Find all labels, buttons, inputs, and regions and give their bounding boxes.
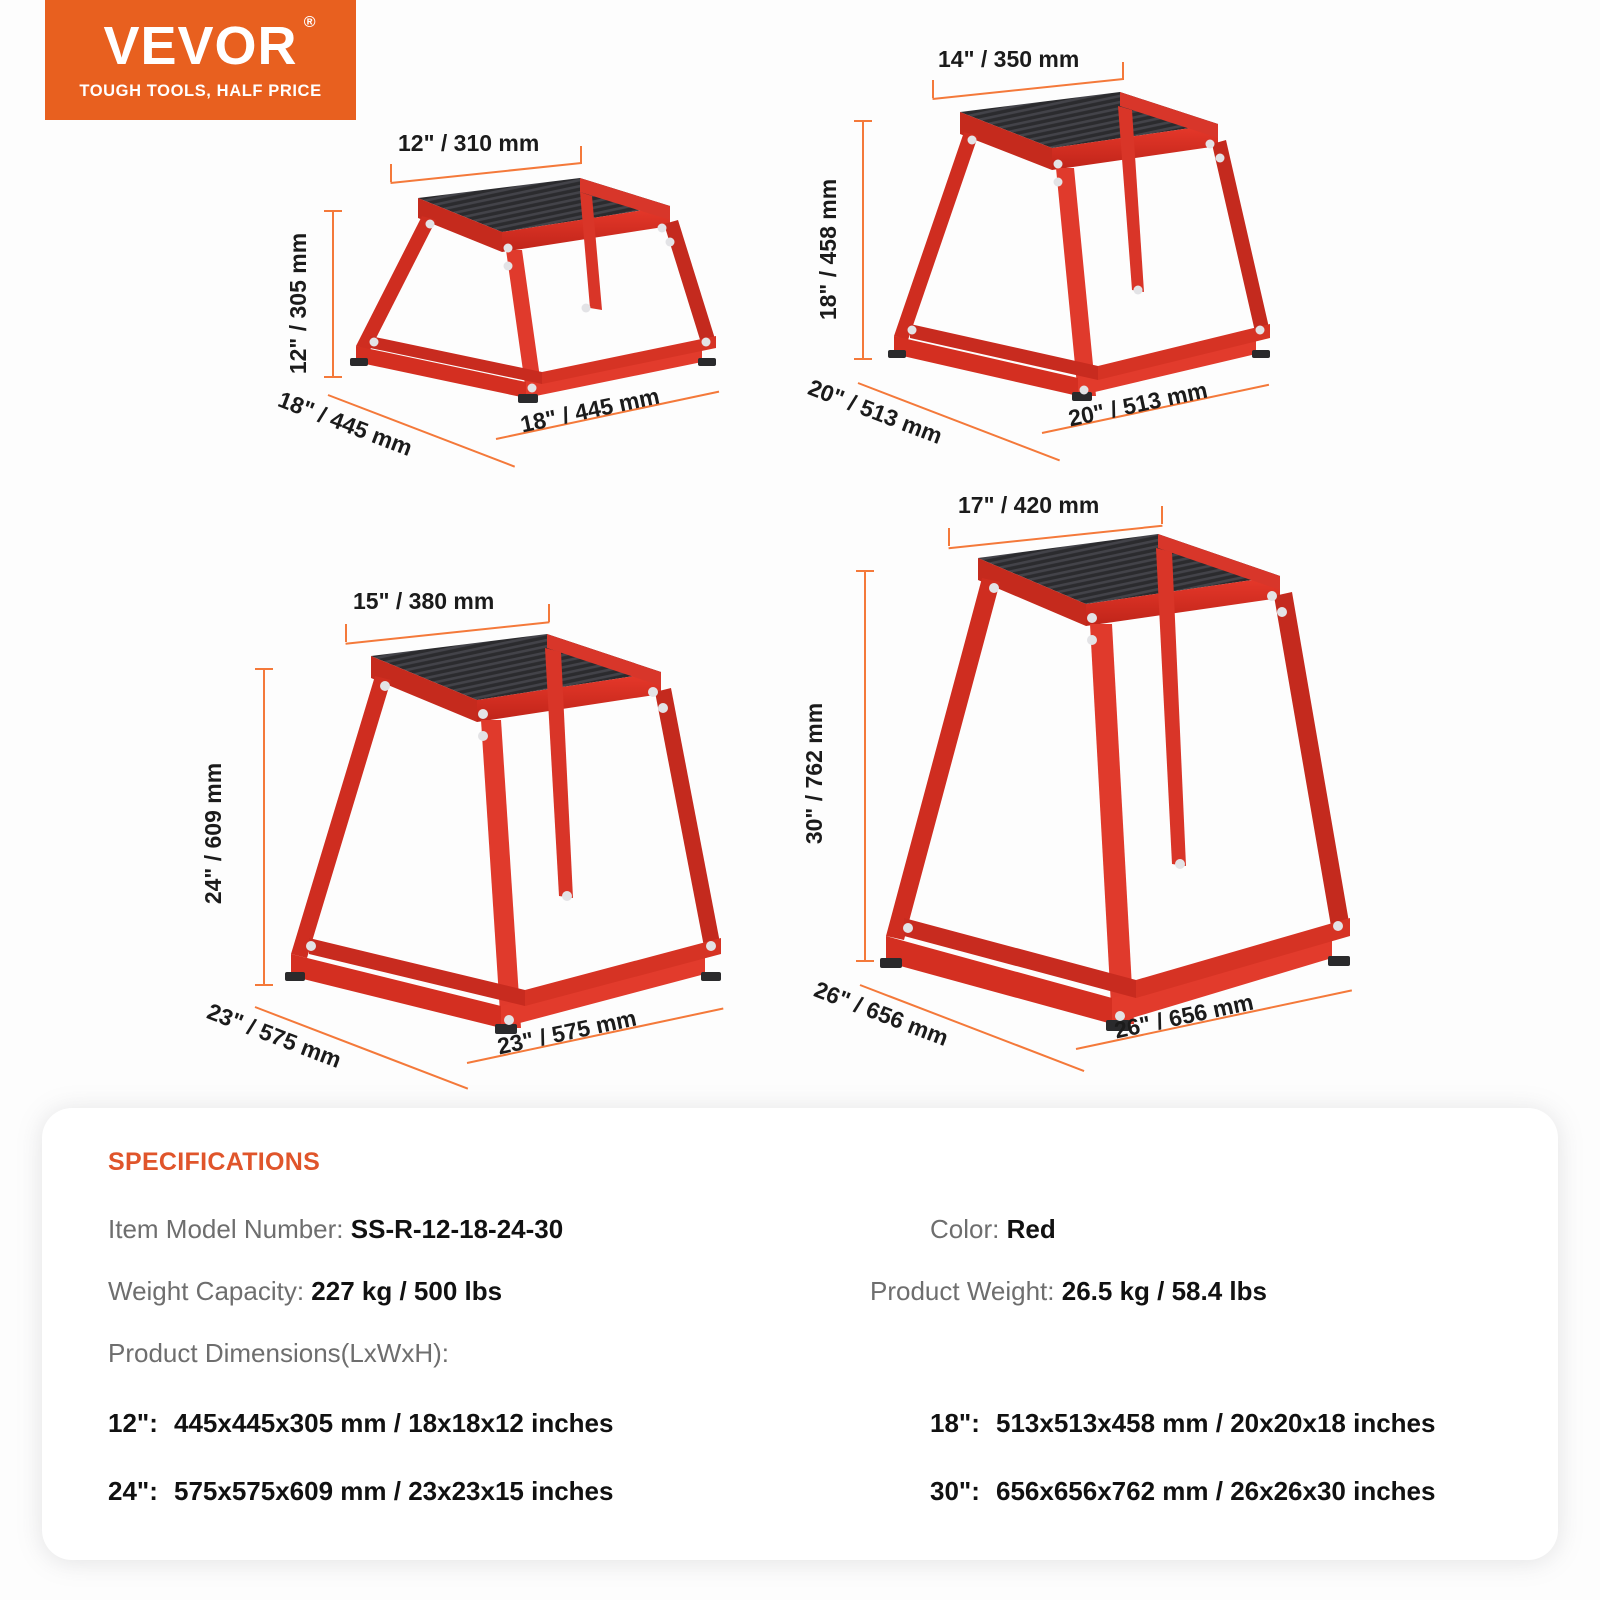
product-figure-30: 17" / 420 mm 30" / 762 mm 26" / 656 mm 2…	[818, 470, 1398, 1100]
dim-tick-bottom-18	[854, 358, 872, 360]
spec-model-number: Item Model Number: SS-R-12-18-24-30	[108, 1216, 563, 1242]
spec-model-label: Item Model Number:	[108, 1214, 344, 1244]
dim-label-top-width-18: 14" / 350 mm	[938, 46, 1079, 73]
logo-wordmark: VEVOR®	[103, 19, 297, 73]
dim-tick-top-30	[856, 570, 874, 572]
dim-tick-top-18	[854, 120, 872, 122]
spec-dimensions-label: Product Dimensions(LxWxH):	[108, 1340, 449, 1366]
spec-color-value: Red	[1007, 1214, 1056, 1244]
product-figure-24: 15" / 380 mm 24" / 609 mm 23" / 575 mm 2…	[225, 560, 765, 1100]
plyo-box-18-illustration	[800, 40, 1320, 460]
spec-product-weight-value: 26.5 kg / 58.4 lbs	[1062, 1276, 1267, 1306]
spec-dimension-value-18: 513x513x458 mm / 20x20x18 inches	[996, 1408, 1435, 1438]
dim-tick-bottom-12	[324, 376, 342, 378]
dim-label-height-18: 18" / 458 mm	[815, 179, 842, 320]
spec-weight-capacity: Weight Capacity: 227 kg / 500 lbs	[108, 1278, 502, 1304]
dim-tick-left-30	[948, 528, 950, 546]
dim-tick-top-12	[324, 210, 342, 212]
logo-brand-text: VEVOR	[103, 16, 297, 76]
product-spec-page: VEVOR® TOUGH TOOLS, HALF PRICE	[0, 0, 1600, 1600]
specifications-card: SPECIFICATIONS Item Model Number: SS-R-1…	[42, 1108, 1558, 1560]
dim-label-height-24: 24" / 609 mm	[200, 763, 227, 904]
spec-dimension-size-12: 12":	[108, 1408, 174, 1439]
dim-tick-bottom-30	[856, 960, 874, 962]
dim-line-height-12	[332, 210, 334, 378]
dim-label-height-30: 30" / 762 mm	[801, 703, 828, 844]
dim-tick-left-12	[390, 164, 392, 182]
registered-trademark-icon: ®	[304, 15, 317, 31]
spec-dimension-row-12: 12":445x445x305 mm / 18x18x12 inches	[108, 1408, 613, 1439]
spec-dimension-size-30: 30":	[930, 1476, 996, 1507]
dim-label-height-12: 12" / 305 mm	[285, 233, 312, 374]
vevor-logo: VEVOR® TOUGH TOOLS, HALF PRICE	[45, 0, 356, 120]
dim-tick-left-24	[345, 624, 347, 642]
logo-tagline: TOUGH TOOLS, HALF PRICE	[79, 82, 321, 101]
spec-dimension-size-24: 24":	[108, 1476, 174, 1507]
plyo-box-24-illustration	[225, 560, 765, 1100]
spec-dimension-size-18: 18":	[930, 1408, 996, 1439]
spec-dimension-row-30: 30":656x656x762 mm / 26x26x30 inches	[930, 1476, 1435, 1507]
spec-dimension-value-12: 445x445x305 mm / 18x18x12 inches	[174, 1408, 613, 1438]
dim-tick-bottom-24	[255, 984, 273, 986]
dim-tick-right-24	[548, 604, 550, 622]
spec-dimension-value-30: 656x656x762 mm / 26x26x30 inches	[996, 1476, 1435, 1506]
product-figure-12: 12" / 310 mm 12" / 305 mm 18" / 445 mm 1…	[250, 120, 770, 460]
dim-label-top-width-24: 15" / 380 mm	[353, 588, 494, 615]
spec-model-value: SS-R-12-18-24-30	[351, 1214, 563, 1244]
dim-tick-right-18	[1122, 62, 1124, 80]
spec-color-label: Color:	[930, 1214, 999, 1244]
spec-dimension-row-24: 24":575x575x609 mm / 23x23x15 inches	[108, 1476, 613, 1507]
spec-capacity-label: Weight Capacity:	[108, 1276, 304, 1306]
spec-dimension-value-24: 575x575x609 mm / 23x23x15 inches	[174, 1476, 613, 1506]
dim-tick-top-24	[255, 668, 273, 670]
dim-line-height-18	[862, 120, 864, 360]
spec-product-weight-label: Product Weight:	[870, 1276, 1055, 1306]
specifications-heading: SPECIFICATIONS	[108, 1148, 320, 1177]
dim-label-top-width-12: 12" / 310 mm	[398, 130, 539, 157]
spec-capacity-value: 227 kg / 500 lbs	[311, 1276, 502, 1306]
spec-product-weight: Product Weight: 26.5 kg / 58.4 lbs	[870, 1278, 1267, 1304]
spec-color: Color: Red	[930, 1216, 1056, 1242]
dim-label-top-width-30: 17" / 420 mm	[958, 492, 1099, 519]
plyo-box-30-illustration	[818, 470, 1398, 1100]
spec-dimension-row-18: 18":513x513x458 mm / 20x20x18 inches	[930, 1408, 1435, 1439]
dim-line-height-30	[864, 570, 866, 962]
dim-tick-right-30	[1161, 506, 1163, 524]
product-figure-18: 14" / 350 mm 18" / 458 mm 20" / 513 mm 2…	[800, 40, 1320, 460]
dim-line-height-24	[263, 668, 265, 986]
dim-tick-left-18	[932, 80, 934, 98]
dim-tick-right-12	[580, 146, 582, 164]
